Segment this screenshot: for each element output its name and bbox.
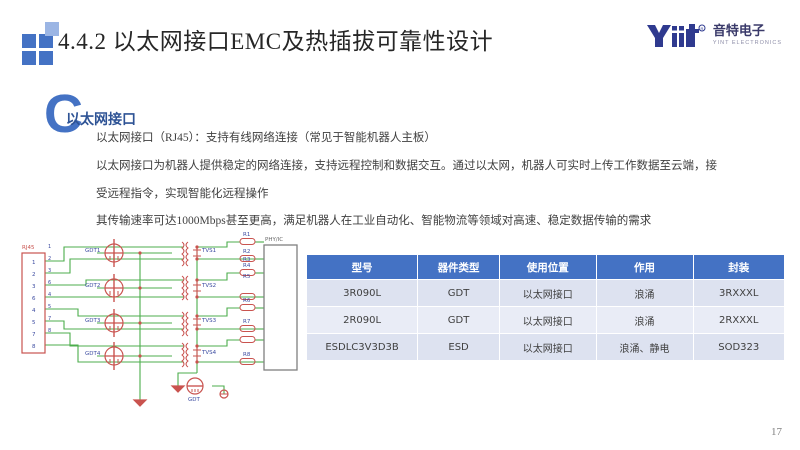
pin-num-1: 1	[48, 244, 51, 250]
pin-label-2: 2	[32, 272, 36, 278]
column-header-package: 封装	[693, 255, 784, 280]
gdt1-label: GDT1	[85, 248, 100, 254]
paragraph-2: 以太网接口为机器人提供稳定的网络连接，支持远程控制和数据交互。通过以太网，机器人…	[96, 158, 796, 176]
square-bottom-left	[22, 51, 36, 65]
rj45-connector	[22, 253, 45, 353]
cell-position: 以太网接口	[500, 334, 597, 361]
pin-label-7: 7	[32, 332, 36, 338]
ethernet-protection-schematic: RJ45 1 2 3 6 4 5 7 8 1 2 3 6 4 5 7 8 GDT…	[12, 228, 304, 410]
cell-position: 以太网接口	[500, 280, 597, 307]
page-number: 17	[771, 426, 782, 438]
pin-label-5: 5	[32, 320, 36, 326]
paragraph-3: 受远程指令，实现智能化远程操作	[96, 186, 796, 204]
brand-name-en: YINT ELECTRONICS	[713, 41, 782, 47]
r4-label: R4	[243, 263, 251, 269]
cell-function: 浪涌、静电	[596, 334, 693, 361]
column-header-model: 型号	[307, 255, 418, 280]
square-top-left	[22, 34, 36, 48]
cell-package: 3RXXXL	[693, 280, 784, 307]
rj45-label: RJ45	[22, 245, 35, 251]
square-accent	[45, 22, 59, 36]
pin-label-4: 4	[32, 308, 36, 314]
component-table: 型号 器件类型 使用位置 作用 封装 3R090L GDT 以太网接口 浪涌 3…	[306, 254, 785, 361]
cell-type: GDT	[418, 307, 500, 334]
cell-package: SOD323	[693, 334, 784, 361]
tvs1-label: TVS1	[201, 248, 216, 254]
svg-text:R: R	[700, 26, 703, 31]
table-row: 2R090L GDT 以太网接口 浪涌 2RXXXL	[307, 307, 785, 334]
cell-function: 浪涌	[596, 307, 693, 334]
pin-label-3: 3	[32, 284, 36, 290]
gdt2-label: GDT2	[85, 283, 100, 289]
column-header-type: 器件类型	[418, 255, 500, 280]
r8-label: R8	[243, 352, 251, 358]
brand-logo: R 音特电子 YINT ELECTRONICS	[645, 18, 782, 54]
ground-symbols	[134, 386, 228, 406]
table-row: ESDLC3V3D3B ESD 以太网接口 浪涌、静电 SOD323	[307, 334, 785, 361]
r5-label: R5	[243, 274, 251, 280]
pin-num-5: 5	[48, 304, 51, 310]
tvs2-label: TVS2	[201, 283, 216, 289]
tvs3-label: TVS3	[201, 318, 217, 324]
gdt4-label: GDT4	[85, 351, 101, 357]
square-bottom-right	[39, 51, 53, 65]
r7-label: R7	[243, 319, 251, 325]
table-header-row: 型号 器件类型 使用位置 作用 封装	[307, 255, 785, 280]
gdt3-label: GDT3	[85, 318, 101, 324]
body-text: 以太网接口（RJ45）：支持有线网络连接（常见于智能机器人主板） 以太网接口为机…	[96, 130, 796, 241]
cell-package: 2RXXXL	[693, 307, 784, 334]
cell-model: ESDLC3V3D3B	[307, 334, 418, 361]
pin-label-6: 6	[32, 296, 36, 302]
cell-model: 3R090L	[307, 280, 418, 307]
bottom-gdt-label: GDT	[188, 397, 200, 403]
column-header-position: 使用位置	[500, 255, 597, 280]
pin-num-6: 6	[48, 280, 51, 286]
tvs4-label: TVS4	[201, 350, 217, 356]
section-label: 以太网接口	[66, 109, 136, 129]
phy-ic-label: PHY/IC	[265, 237, 283, 243]
pin-label-8: 8	[32, 344, 36, 350]
transformer-coils	[182, 242, 188, 367]
pin-num-4: 4	[48, 292, 51, 298]
r1-label: R1	[243, 232, 250, 238]
brand-text: 音特电子 YINT ELECTRONICS	[713, 25, 782, 47]
cell-position: 以太网接口	[500, 307, 597, 334]
wires	[45, 242, 264, 400]
four-squares-icon	[22, 22, 62, 62]
pin-num-8: 8	[48, 328, 51, 334]
r6-label: R6	[243, 298, 251, 304]
page-title: 4.4.2 以太网接口EMC及热插拔可靠性设计	[58, 22, 493, 56]
yint-wordmark-icon: R	[645, 22, 707, 50]
pin-num-3: 3	[48, 268, 51, 274]
cell-model: 2R090L	[307, 307, 418, 334]
column-header-function: 作用	[596, 255, 693, 280]
cell-type: GDT	[418, 280, 500, 307]
r2-label: R2	[243, 249, 250, 255]
cell-function: 浪涌	[596, 280, 693, 307]
cell-type: ESD	[418, 334, 500, 361]
paragraph-1: 以太网接口（RJ45）：支持有线网络连接（常见于智能机器人主板）	[96, 130, 796, 148]
slide-canvas: 4.4.2 以太网接口EMC及热插拔可靠性设计 R 音特电子 YINT ELEC…	[0, 0, 800, 450]
pin-num-7: 7	[48, 316, 51, 322]
brand-name-cn: 音特电子	[713, 25, 782, 38]
table-row: 3R090L GDT 以太网接口 浪涌 3RXXXL	[307, 280, 785, 307]
square-top-right	[39, 34, 53, 48]
phy-ic-block	[264, 245, 297, 370]
pin-num-2: 2	[48, 256, 51, 262]
pin-label-1: 1	[32, 260, 36, 266]
schematic-labels: RJ45 1 2 3 6 4 5 7 8 1 2 3 6 4 5 7 8 GDT…	[22, 232, 283, 403]
